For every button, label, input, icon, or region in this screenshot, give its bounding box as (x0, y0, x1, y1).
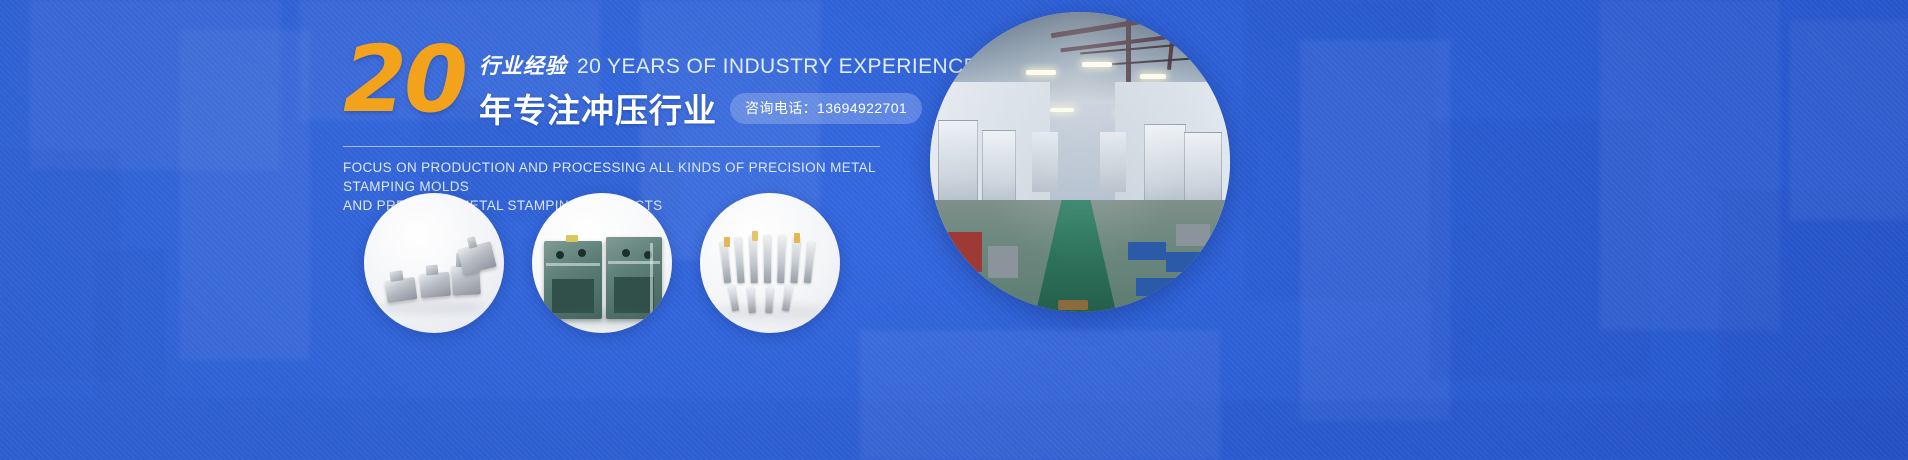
product-circle-mold (532, 193, 672, 333)
product-circle-connectors (364, 193, 504, 333)
headline-copy-block: 20 行业经验 20 YEARS OF INDUSTRY EXPERIENCE … (343, 36, 883, 215)
description-line-1: FOCUS ON PRODUCTION AND PROCESSING ALL K… (343, 158, 883, 196)
cn-headline: 年专注冲压行业 (479, 84, 717, 132)
divider-rule (343, 146, 880, 147)
cn-subtitle: 行业经验 (479, 50, 567, 80)
en-headline: 20 YEARS OF INDUSTRY EXPERIENCE (577, 55, 978, 79)
years-number: 20 (343, 40, 465, 119)
promo-banner: 20 行业经验 20 YEARS OF INDUSTRY EXPERIENCE … (0, 0, 1908, 460)
product-circle-terminals (700, 193, 840, 333)
factory-photo-circle (930, 12, 1230, 312)
phone-badge[interactable]: 咨询电话：13694922701 (730, 93, 922, 124)
